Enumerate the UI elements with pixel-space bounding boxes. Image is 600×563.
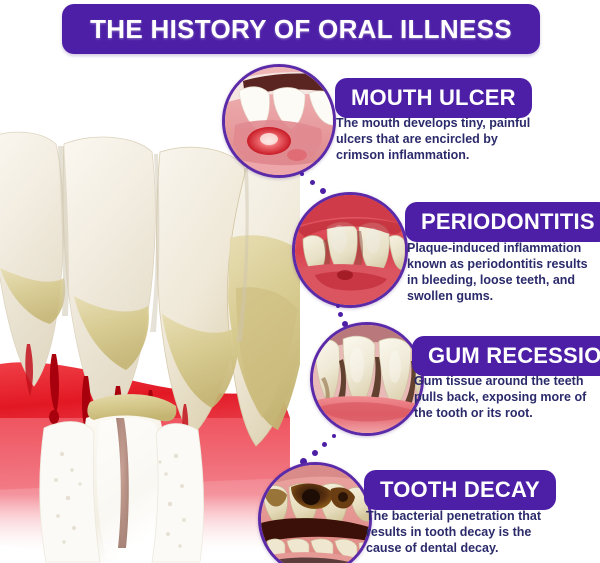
- gum-recession-photo: [310, 322, 424, 436]
- label-periodontitis: PERIODONTITIS: [405, 202, 600, 242]
- periodontitis-photo: [292, 192, 408, 308]
- connector-dot: [310, 180, 315, 185]
- tooth-decay-photo: [258, 462, 372, 563]
- page-title: THE HISTORY OF ORAL ILLNESS: [90, 14, 512, 45]
- label-gum-recession: GUM RECESSION: [412, 336, 600, 376]
- connector-dot: [322, 442, 327, 447]
- gum-disease-3d-illustration: [0, 118, 300, 563]
- mouth-ulcer-photo: [222, 64, 336, 178]
- infographic-poster: THE HISTORY OF ORAL ILLNESS: [0, 0, 600, 563]
- connector-dot: [320, 188, 326, 194]
- body-gum-recession: Gum tissue around the teeth pulls back, …: [414, 373, 598, 421]
- connector-dot: [312, 450, 318, 456]
- connector-dot: [300, 172, 304, 176]
- body-mouth-ulcer: The mouth develops tiny, painful ulcers …: [336, 115, 542, 163]
- body-tooth-decay: The bacterial penetration that results i…: [366, 508, 564, 556]
- body-periodontitis: Plaque-induced inflammation known as per…: [407, 240, 597, 304]
- connector-dot: [336, 304, 340, 308]
- connector-dot: [338, 312, 343, 317]
- connector-dot: [332, 434, 336, 438]
- title-banner: THE HISTORY OF ORAL ILLNESS: [62, 4, 540, 54]
- label-tooth-decay: TOOTH DECAY: [364, 470, 556, 510]
- label-mouth-ulcer: MOUTH ULCER: [335, 78, 532, 118]
